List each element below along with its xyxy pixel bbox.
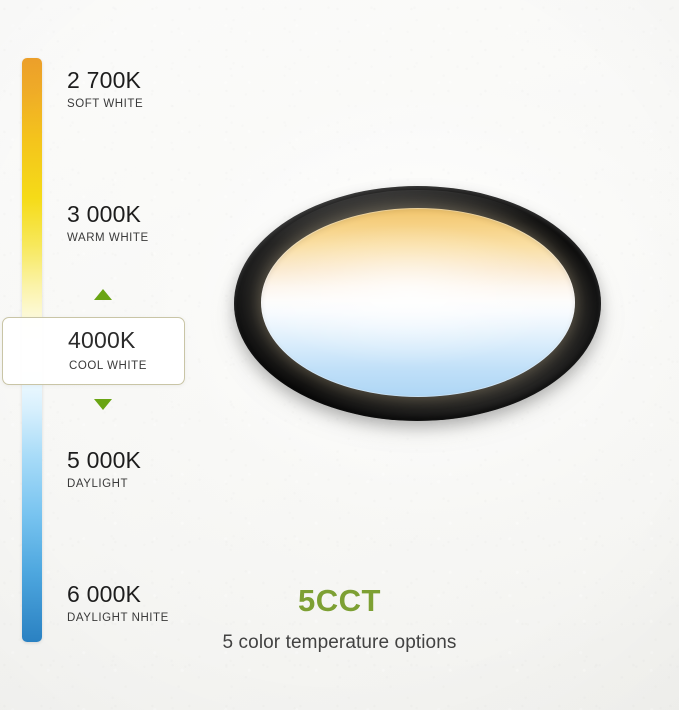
cct-option-5000k[interactable]: 5 000K DAYLIGHT <box>67 448 141 490</box>
ceiling-light-product-image <box>234 186 601 421</box>
lamp-diffuser-panel <box>261 208 575 397</box>
cct-caption: 5 color temperature options <box>0 632 679 654</box>
cct-option-3000k[interactable]: 3 000K WARM WHITE <box>67 202 149 244</box>
cct-option-2700k[interactable]: 2 700K SOFT WHITE <box>67 68 143 110</box>
cct-option-4000k-selected[interactable]: 4000K COOL WHITE <box>2 317 185 385</box>
cct-headline: 5CCT <box>0 583 679 619</box>
cct-temp-value: 2 700K <box>67 68 143 92</box>
arrow-down-icon[interactable] <box>94 399 112 410</box>
arrow-up-icon[interactable] <box>94 289 112 300</box>
cct-temp-value: 4000K <box>68 328 136 352</box>
cct-temp-name: WARM WHITE <box>67 232 149 244</box>
cct-temp-value: 3 000K <box>67 202 149 226</box>
cct-temp-name: COOL WHITE <box>69 360 147 372</box>
infographic-canvas: 2 700K SOFT WHITE 3 000K WARM WHITE 4000… <box>0 0 679 710</box>
cct-temp-name: DAYLIGHT <box>67 478 141 490</box>
cct-temp-value: 5 000K <box>67 448 141 472</box>
cct-temp-name: SOFT WHITE <box>67 98 143 110</box>
